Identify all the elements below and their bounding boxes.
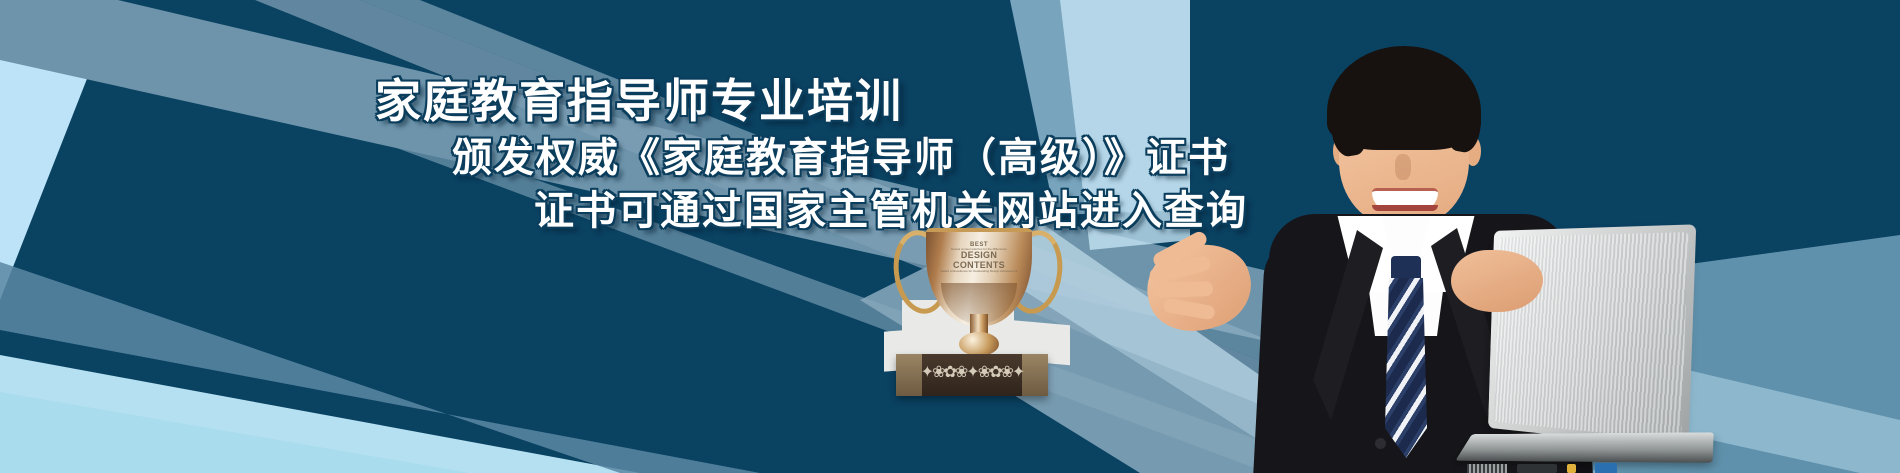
- laptop-port-vga: [1595, 463, 1617, 473]
- trophy-base-ornament: ✦❀✿❀✦❀✿❀✦: [902, 362, 1042, 388]
- finger-ring: [1153, 281, 1213, 298]
- hand-holding-laptop: [1451, 250, 1543, 312]
- businessman-figure: [1255, 18, 1675, 473]
- banner-subline-1: 颁发权威《家庭教育指导师（高级）》证书: [452, 125, 1230, 183]
- smiling-mouth: [1372, 188, 1438, 211]
- laptop-base-deck: [1455, 432, 1713, 462]
- laptop-port-power: [1567, 464, 1576, 473]
- trophy-knob: [959, 332, 999, 356]
- trophy-label-main: DESIGN CONTENTS: [936, 251, 1022, 270]
- suit-button: [1375, 438, 1386, 449]
- laptop-vent: [1467, 464, 1507, 473]
- trophy-engraving: BEST Kessel contest watches for the Mill…: [936, 242, 1022, 273]
- trophy-graphic: BEST Kessel contest watches for the Mill…: [868, 226, 1088, 396]
- nose: [1395, 154, 1411, 180]
- promo-banner: 家庭教育指导师专业培训 颁发权威《家庭教育指导师（高级）》证书 证书可通过国家主…: [0, 0, 1900, 473]
- banner-headline: 家庭教育指导师专业培训: [375, 65, 903, 131]
- laptop-port-usb: [1517, 464, 1557, 473]
- hair: [1327, 46, 1481, 150]
- striped-necktie: [1385, 278, 1427, 458]
- trophy-label-sub-bottom: Award of Excellence for Outstanding Desi…: [936, 270, 1022, 273]
